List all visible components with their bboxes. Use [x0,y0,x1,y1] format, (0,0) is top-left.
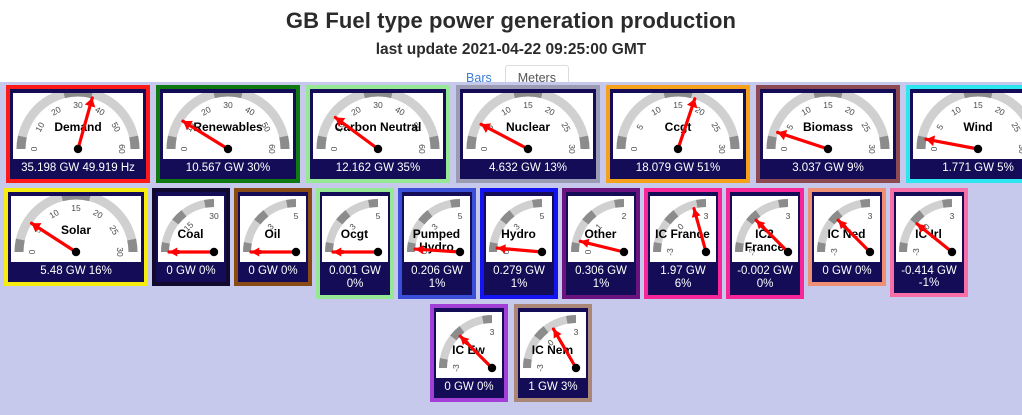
gauge-readout: 0.279 GW 1% [488,262,550,293]
svg-text:2: 2 [622,211,627,221]
svg-text:40: 40 [243,104,256,118]
gauge-face: 051015202530Ccgt [613,93,743,159]
svg-text:0: 0 [179,146,189,151]
svg-text:15: 15 [823,100,833,110]
gauge-card[interactable]: -303IC Nem1 GW 3% [514,304,592,402]
svg-text:20: 20 [843,104,856,118]
gauge-face: 051015202530Nuclear [463,93,593,159]
svg-text:25: 25 [709,120,723,133]
svg-text:10: 10 [499,104,512,118]
svg-text:10: 10 [949,104,962,118]
svg-text:0: 0 [479,146,489,151]
svg-text:30: 30 [717,144,727,154]
svg-text:15: 15 [71,203,81,213]
gauge-face: 035Ocgt [322,196,388,262]
gauge-card[interactable]: -303IC Ew0 GW 0% [430,304,508,402]
svg-text:Demand: Demand [54,120,101,134]
gauge-readout: 0.306 GW 1% [570,262,632,293]
gauge-card[interactable]: 035Oil0 GW 0% [234,188,312,286]
svg-text:5: 5 [784,122,795,131]
gauge-face: 035PumpedHydro [404,196,470,262]
gauge-face: 035Hydro [486,196,552,262]
svg-text:60: 60 [267,144,277,154]
svg-text:5: 5 [294,211,299,221]
svg-text:5: 5 [540,211,545,221]
gauge-readout: 4.632 GW 13% [464,159,592,177]
gauge-readout: 0.206 GW 1% [406,262,468,293]
gauge-card[interactable]: -303IC France1.97 GW 6% [644,188,722,299]
svg-text:15: 15 [973,100,983,110]
gauge-face: 0102030405060Demand [13,93,143,159]
svg-text:30: 30 [223,100,233,110]
svg-text:30: 30 [115,247,125,257]
svg-text:0: 0 [329,146,339,151]
gauge-card[interactable]: 0102030405060Renewables10.567 GW 30% [156,85,300,183]
svg-text:Hydro: Hydro [501,227,536,241]
gauge-card[interactable]: 035Ocgt0.001 GW 0% [316,188,394,299]
svg-text:20: 20 [49,104,62,118]
gauge-row-3: -303IC Ew0 GW 0%-303IC Nem1 GW 3% [0,299,1022,402]
svg-text:3: 3 [574,327,579,337]
svg-text:30: 30 [73,100,83,110]
svg-text:60: 60 [117,144,127,154]
svg-text:-3: -3 [911,248,921,256]
gauge-card[interactable]: -303IC Ned0 GW 0% [808,188,886,286]
svg-text:0: 0 [779,146,789,151]
svg-text:20: 20 [349,104,362,118]
gauge-face: -303IC Nem [520,312,586,378]
svg-text:Ocgt: Ocgt [341,227,368,241]
svg-text:10: 10 [799,104,812,118]
svg-text:10: 10 [47,207,60,221]
svg-text:5: 5 [634,122,645,131]
gauge-readout: -0.002 GW 0% [734,262,796,293]
svg-text:Renewables: Renewables [193,120,263,134]
gauge-readout: 10.567 GW 30% [164,159,292,177]
svg-text:Solar: Solar [61,223,91,237]
gauge-face: -303IC Ned [814,196,880,262]
gauge-face: 0102030405060Renewables [163,93,293,159]
svg-text:50: 50 [109,120,123,133]
gauge-face: 051015202530Biomass [763,93,893,159]
gauge-readout: 5.48 GW 16% [12,262,140,280]
gauge-face: -303IC Ew [436,312,502,378]
gauge-readout: 35.198 GW 49.919 Hz [14,159,142,177]
gauges-board: 0102030405060Demand35.198 GW 49.919 Hz01… [0,82,1022,415]
gauge-readout: 0 GW 0% [242,262,304,280]
svg-text:20: 20 [91,207,104,221]
svg-text:20: 20 [543,104,556,118]
svg-text:10: 10 [649,104,662,118]
gauge-readout: 1.771 GW 5% [914,159,1022,177]
gauge-readout: 1.97 GW 6% [652,262,714,293]
gauge-readout: 3.037 GW 9% [764,159,892,177]
svg-text:40: 40 [393,104,406,118]
gauge-readout: 0 GW 0% [438,378,500,396]
svg-text:Wind: Wind [963,120,992,134]
svg-text:30: 30 [373,100,383,110]
svg-text:30: 30 [867,144,877,154]
svg-text:10: 10 [33,120,47,133]
svg-text:60: 60 [417,144,427,154]
svg-text:Other: Other [584,227,616,241]
gauge-card[interactable]: 051015202530Biomass3.037 GW 9% [756,85,900,183]
gauge-card[interactable]: 0102030405060Carbon Neutral12.162 GW 35% [306,85,450,183]
svg-text:0: 0 [29,146,39,151]
svg-text:5: 5 [376,211,381,221]
svg-text:Biomass: Biomass [803,120,853,134]
gauge-row-2: 051015202530Solar5.48 GW 16%01530Coal0 G… [0,183,1022,299]
gauge-face: -303IC Irl [896,196,962,262]
svg-text:Oil: Oil [264,227,280,241]
gauge-face: 0102030405060Carbon Neutral [313,93,443,159]
gauge-face: 035Oil [240,196,306,262]
gauge-card[interactable]: -303IC2France-0.002 GW 0% [726,188,804,299]
gauge-card[interactable]: 035Hydro0.279 GW 1% [480,188,558,299]
svg-text:3: 3 [704,211,709,221]
svg-text:15: 15 [523,100,533,110]
gauge-readout: 0 GW 0% [160,262,222,280]
svg-text:25: 25 [107,223,121,236]
svg-text:40: 40 [93,104,106,118]
gauge-face: -303IC France [650,196,716,262]
gauge-face: 051015202530Wind [913,93,1022,159]
svg-text:Pumped: Pumped [413,227,460,241]
gauge-face: -303IC2France [732,196,798,262]
svg-text:0: 0 [929,146,939,151]
gauge-card[interactable]: 012Other0.306 GW 1% [562,188,640,299]
gauge-readout: 0.001 GW 0% [324,262,386,293]
svg-text:-3: -3 [535,364,545,372]
svg-text:Nuclear: Nuclear [506,120,550,134]
svg-text:-3: -3 [829,248,839,256]
gauge-row-1: 0102030405060Demand35.198 GW 49.919 Hz01… [0,82,1022,183]
svg-text:30: 30 [1017,144,1022,154]
gauge-card[interactable]: 051015202530Nuclear4.632 GW 13% [456,85,600,183]
last-update-label: last update 2021-04-22 09:25:00 GMT [0,34,1022,60]
gauge-readout: 1 GW 3% [522,378,584,396]
svg-text:3: 3 [786,211,791,221]
svg-text:0: 0 [583,249,593,254]
gauge-face: 051015202530Solar [11,196,141,262]
svg-text:25: 25 [1009,120,1022,133]
gauge-card[interactable]: -303IC Irl-0.414 GW -1% [890,188,968,297]
svg-text:0: 0 [27,249,37,254]
svg-text:30: 30 [567,144,577,154]
page-title: GB Fuel type power generation production [0,4,1022,34]
page-header: GB Fuel type power generation production… [0,0,1022,91]
svg-text:30: 30 [209,211,219,221]
gauge-card[interactable]: 01530Coal0 GW 0% [152,188,230,286]
svg-text:25: 25 [859,120,873,133]
gauge-readout: 0 GW 0% [816,262,878,280]
gauge-card[interactable]: 035PumpedHydro0.206 GW 1% [398,188,476,299]
svg-text:3: 3 [950,211,955,221]
gauge-card[interactable]: 051015202530Solar5.48 GW 16% [4,188,148,286]
gauge-readout: 18.079 GW 51% [614,159,742,177]
gauge-readout: -0.414 GW -1% [898,262,960,291]
gauge-card[interactable]: 051015202530Ccgt18.079 GW 51% [606,85,750,183]
svg-text:5: 5 [458,211,463,221]
svg-text:-3: -3 [665,248,675,256]
svg-text:15: 15 [673,100,683,110]
svg-text:Coal: Coal [177,227,203,241]
svg-text:5: 5 [934,122,945,131]
gauges-dashboard: GB Fuel type power generation production… [0,0,1022,415]
svg-text:0: 0 [629,146,639,151]
svg-text:20: 20 [993,104,1006,118]
svg-text:20: 20 [199,104,212,118]
svg-text:3: 3 [490,327,495,337]
gauge-readout: 12.162 GW 35% [314,159,442,177]
svg-text:-3: -3 [451,364,461,372]
gauge-face: 01530Coal [158,196,224,262]
svg-text:3: 3 [868,211,873,221]
svg-text:25: 25 [559,120,573,133]
gauge-card[interactable]: 0102030405060Demand35.198 GW 49.919 Hz [6,85,150,183]
gauge-card[interactable]: 051015202530Wind1.771 GW 5% [906,85,1022,183]
gauge-face: 012Other [568,196,634,262]
